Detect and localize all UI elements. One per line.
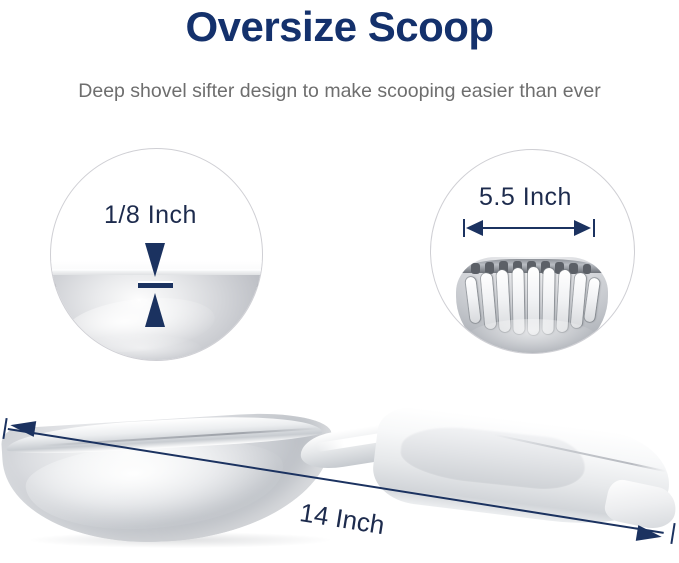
dimension-shaft bbox=[476, 227, 582, 229]
sifter-slot bbox=[481, 273, 497, 330]
page-subtitle: Deep shovel sifter design to make scoopi… bbox=[0, 78, 679, 104]
slot-shadow bbox=[583, 264, 591, 274]
product-hero-image bbox=[0, 392, 679, 563]
dimension-cap-right bbox=[593, 219, 595, 237]
callout-label-width: 5.5 Inch bbox=[479, 183, 572, 212]
callout-label-thickness: 1/8 Inch bbox=[104, 201, 197, 230]
dimension-cap-left bbox=[463, 219, 465, 237]
arrow-up-icon bbox=[145, 293, 165, 327]
sifter-head-sheen bbox=[466, 319, 598, 354]
arrow-down-icon bbox=[145, 243, 165, 277]
page-title: Oversize Scoop bbox=[0, 2, 679, 52]
sifter-slot bbox=[465, 277, 481, 324]
callout-circle-width bbox=[430, 149, 635, 354]
slot-shadow bbox=[569, 263, 578, 274]
slot-shadow bbox=[471, 263, 480, 274]
sifter-slot bbox=[584, 278, 600, 323]
arrow-left-icon bbox=[466, 220, 483, 236]
product-feature-image: Oversize Scoop Deep shovel sifter design… bbox=[0, 0, 679, 563]
sifter-head-body bbox=[456, 257, 608, 354]
bowl-sheen-secondary bbox=[81, 335, 201, 361]
arrow-right-icon bbox=[574, 220, 591, 236]
sifter-head-illustration bbox=[431, 150, 634, 353]
sifter-slot bbox=[571, 273, 587, 329]
thickness-marker-bar bbox=[138, 281, 173, 288]
